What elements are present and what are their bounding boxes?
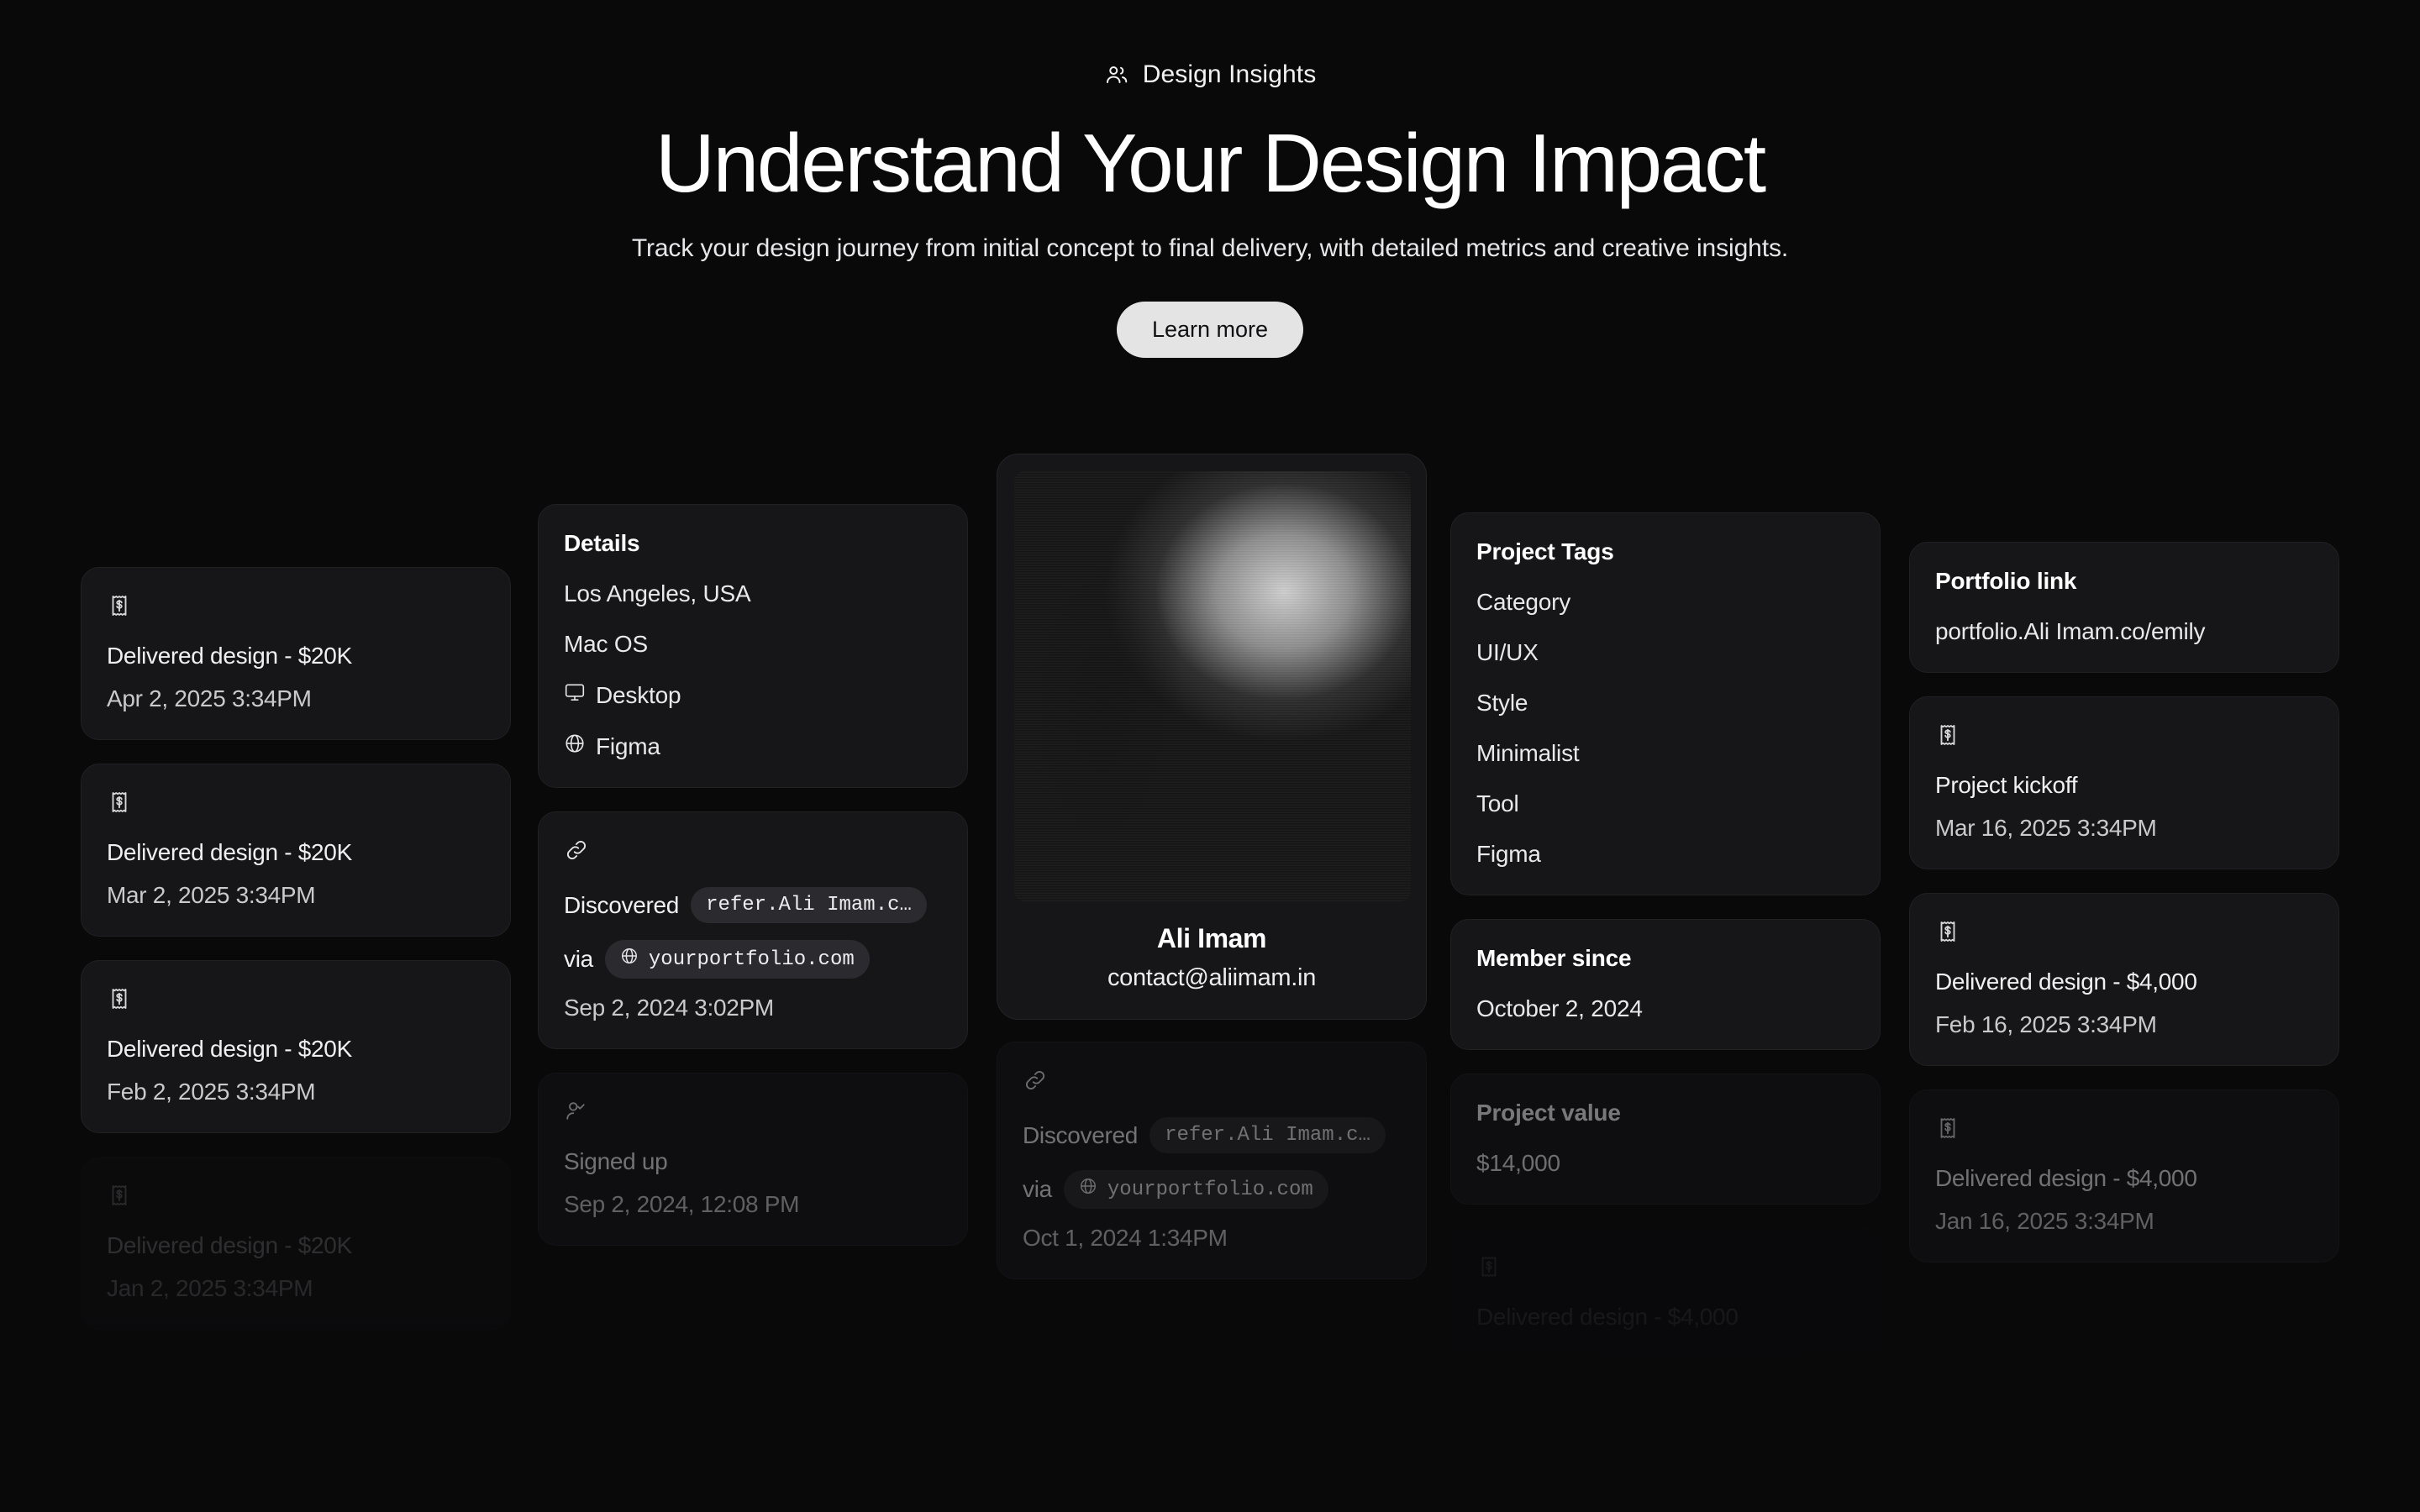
portfolio-link-card[interactable]: Portfolio link portfolio.Ali Imam.co/emi…: [1909, 542, 2339, 673]
details-location: Los Angeles, USA: [564, 580, 942, 607]
signup-label: Signed up: [564, 1148, 942, 1175]
discovered-label: Discovered: [564, 892, 679, 919]
member-since-title: Member since: [1476, 945, 1854, 972]
users-icon: [1104, 62, 1129, 87]
hero-section: Design Insights Understand Your Design I…: [0, 0, 2420, 358]
payment-time: Feb 2, 2025 3:34PM: [107, 1079, 485, 1105]
via-chip-label: yourportfolio.com: [649, 948, 855, 971]
via-label: via: [1023, 1176, 1052, 1203]
tag-value: Figma: [1476, 841, 1854, 868]
profile-card[interactable]: Ali Imam contact@aliimam.in: [997, 454, 1427, 1020]
tag-value: Minimalist: [1476, 740, 1854, 767]
details-device-label: Desktop: [596, 682, 681, 709]
payment-time: Jan 2, 2025 3:34PM: [107, 1275, 485, 1302]
cards-board: Delivered design - $20K Apr 2, 2025 3:34…: [0, 454, 2420, 1512]
payment-label: Delivered design - $20K: [107, 839, 485, 866]
discovered-via-row: via yourportfolio.com: [1023, 1170, 1401, 1209]
avatar: [1014, 471, 1411, 901]
portfolio-link-value[interactable]: portfolio.Ali Imam.co/emily: [1935, 618, 2313, 645]
tag-key: Style: [1476, 690, 1854, 717]
payment-card[interactable]: Delivered design - $20K Feb 2, 2025 3:34…: [81, 960, 511, 1133]
receipt-dollar-icon: [107, 790, 485, 819]
globe-icon: [1079, 1177, 1097, 1202]
receipt-dollar-icon: [107, 1183, 485, 1212]
eyebrow: Design Insights: [1104, 60, 1317, 89]
tag-value: UI/UX: [1476, 639, 1854, 666]
learn-more-button[interactable]: Learn more: [1117, 302, 1303, 358]
project-value-amount: $14,000: [1476, 1150, 1854, 1177]
globe-icon: [564, 732, 586, 760]
column-project-meta: Project Tags Category UI/UX Style Minima…: [1450, 512, 1881, 1374]
payment-time: Mar 2, 2025 3:34PM: [107, 882, 485, 909]
payment-card[interactable]: Delivered design - $20K Apr 2, 2025 3:34…: [81, 567, 511, 740]
payment-card[interactable]: Delivered design - $20K Mar 2, 2025 3:34…: [81, 764, 511, 937]
payment-time: Apr 2, 2025 3:34PM: [107, 685, 485, 712]
payment-card[interactable]: Delivered design - $4,000 Feb 16, 2025 3…: [1909, 893, 2339, 1066]
discovered-row: Discovered refer.Ali Imam.c…: [1023, 1117, 1401, 1153]
payment-label: Delivered design - $4,000: [1476, 1304, 1854, 1331]
column-payments-left: Delivered design - $20K Apr 2, 2025 3:34…: [81, 567, 511, 1330]
discovered-time: Sep 2, 2024 3:02PM: [564, 995, 942, 1021]
details-device-row: Desktop: [564, 681, 942, 709]
discovered-label: Discovered: [1023, 1122, 1138, 1149]
payment-label: Delivered design - $20K: [107, 1036, 485, 1063]
payment-label: Delivered design - $4,000: [1935, 969, 2313, 995]
page-title: Understand Your Design Impact: [0, 120, 2420, 207]
payment-label: Delivered design - $20K: [107, 1232, 485, 1259]
receipt-dollar-icon: [1935, 722, 2313, 752]
payment-label: Delivered design - $4,000: [1935, 1165, 2313, 1192]
profile-email: contact@aliimam.in: [1014, 964, 1409, 992]
via-label: via: [564, 946, 593, 973]
payment-time: Feb 16, 2025 3:34PM: [1935, 1011, 2313, 1038]
link-icon: [564, 837, 942, 867]
signup-card[interactable]: Signed up Sep 2, 2024, 12:08 PM: [538, 1073, 968, 1246]
project-tags-card[interactable]: Project Tags Category UI/UX Style Minima…: [1450, 512, 1881, 895]
signup-time: Sep 2, 2024, 12:08 PM: [564, 1191, 942, 1218]
payment-label: Project kickoff: [1935, 772, 2313, 799]
column-payments-right: Portfolio link portfolio.Ali Imam.co/emi…: [1909, 542, 2339, 1263]
column-details: Details Los Angeles, USA Mac OS Desktop: [538, 504, 968, 1246]
receipt-dollar-icon: [107, 986, 485, 1016]
referrer-chip[interactable]: refer.Ali Imam.c…: [691, 887, 927, 923]
project-value-title: Project value: [1476, 1100, 1854, 1126]
discovered-card[interactable]: Discovered refer.Ali Imam.c… via: [997, 1042, 1427, 1279]
column-profile: Ali Imam contact@aliimam.in Discovered r…: [997, 454, 1427, 1279]
details-tool-row: Figma: [564, 732, 942, 760]
payment-card[interactable]: Delivered design - $20K Jan 2, 2025 3:34…: [81, 1157, 511, 1330]
project-tags-title: Project Tags: [1476, 538, 1854, 565]
payment-card[interactable]: Delivered design - $4,000 Jan 16, 2025 3…: [1909, 1089, 2339, 1263]
receipt-dollar-icon: [1935, 1116, 2313, 1145]
monitor-icon: [564, 681, 586, 709]
tag-key: Category: [1476, 589, 1854, 616]
discovered-via-row: via yourportfolio.com: [564, 940, 942, 979]
portfolio-link-title: Portfolio link: [1935, 568, 2313, 595]
via-chip-label: yourportfolio.com: [1107, 1179, 1313, 1201]
details-card[interactable]: Details Los Angeles, USA Mac OS Desktop: [538, 504, 968, 788]
referrer-chip[interactable]: refer.Ali Imam.c…: [1149, 1117, 1386, 1153]
page-root: Design Insights Understand Your Design I…: [0, 0, 2420, 1512]
payment-time: Jan 16, 2025 3:34PM: [1935, 1208, 2313, 1235]
project-value-card[interactable]: Project value $14,000: [1450, 1074, 1881, 1205]
profile-name: Ali Imam: [1014, 923, 1409, 954]
eyebrow-label: Design Insights: [1143, 60, 1317, 89]
link-icon: [1023, 1068, 1401, 1097]
payment-card[interactable]: Delivered design - $4,000: [1450, 1228, 1881, 1374]
details-os: Mac OS: [564, 631, 942, 658]
via-chip[interactable]: yourportfolio.com: [605, 940, 870, 979]
globe-icon: [620, 947, 639, 972]
discovered-card[interactable]: Discovered refer.Ali Imam.c… via: [538, 811, 968, 1049]
details-tool-label: Figma: [596, 733, 660, 760]
discovered-time: Oct 1, 2024 1:34PM: [1023, 1225, 1401, 1252]
receipt-dollar-icon: [107, 593, 485, 622]
payment-label: Delivered design - $20K: [107, 643, 485, 669]
via-chip[interactable]: yourportfolio.com: [1064, 1170, 1328, 1209]
member-since-value: October 2, 2024: [1476, 995, 1854, 1022]
discovered-row: Discovered refer.Ali Imam.c…: [564, 887, 942, 923]
tag-key: Tool: [1476, 790, 1854, 817]
payment-card[interactable]: Project kickoff Mar 16, 2025 3:34PM: [1909, 696, 2339, 869]
member-since-card[interactable]: Member since October 2, 2024: [1450, 919, 1881, 1050]
receipt-dollar-icon: [1935, 919, 2313, 948]
user-check-icon: [564, 1099, 942, 1128]
details-card-title: Details: [564, 530, 942, 557]
page-subtitle: Track your design journey from initial c…: [0, 234, 2420, 263]
payment-time: Mar 16, 2025 3:34PM: [1935, 815, 2313, 842]
receipt-dollar-icon: [1476, 1254, 1854, 1284]
